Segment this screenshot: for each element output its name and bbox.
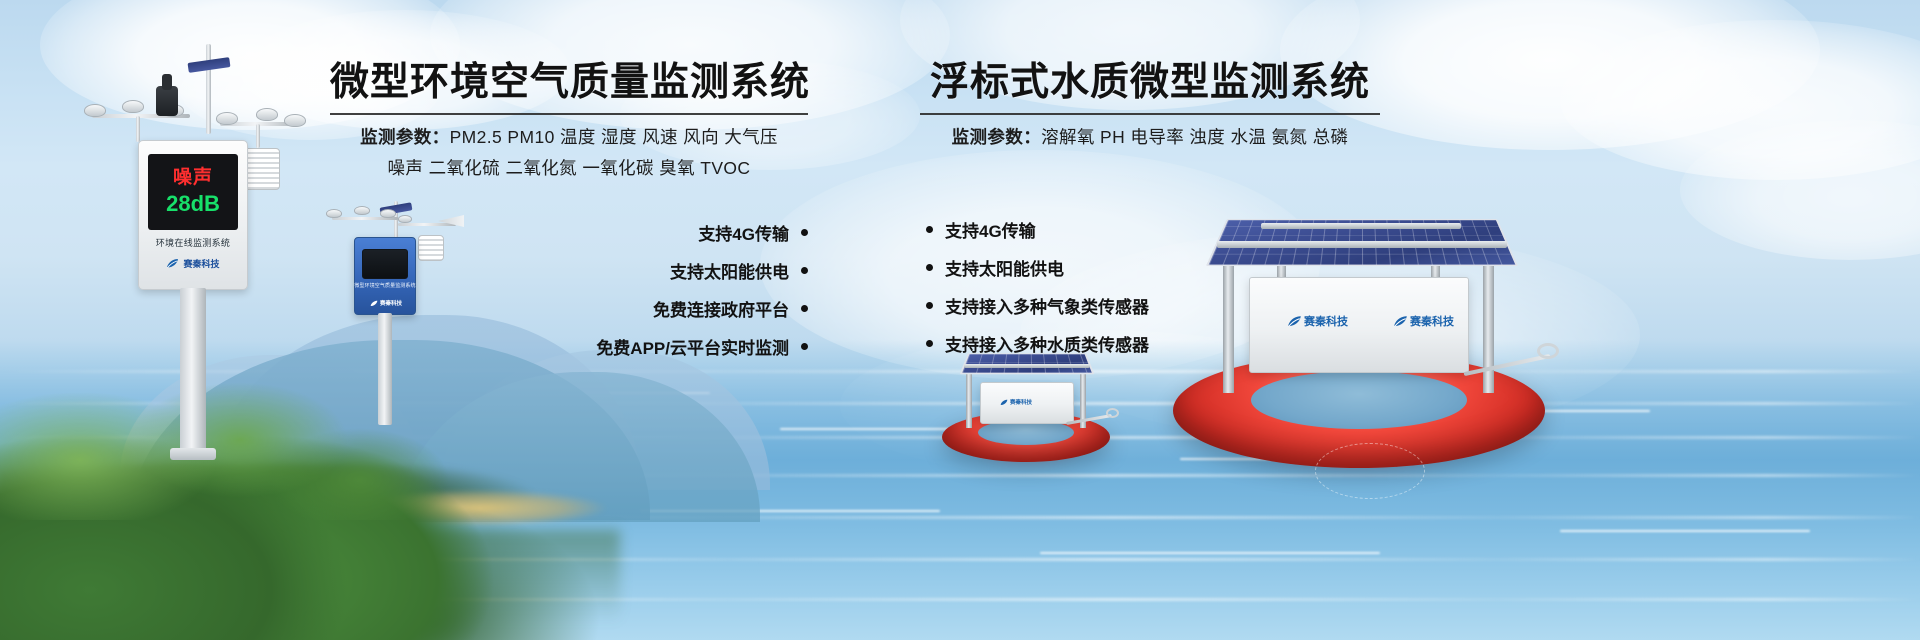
left-panel-divider bbox=[330, 113, 808, 115]
buoy-mooring-ring bbox=[1537, 343, 1559, 359]
station-antenna-mast bbox=[206, 44, 211, 134]
cloud-shape bbox=[1560, 20, 1920, 180]
station-display-screen: 噪声 28dB bbox=[148, 154, 238, 230]
sensor-pod-tip bbox=[162, 74, 172, 90]
right-feature-item: 支持接入多种气象类传感器 bbox=[926, 287, 1380, 325]
brand-leaf-icon bbox=[166, 258, 179, 269]
brand-leaf-icon bbox=[1000, 399, 1008, 406]
water-shimmer bbox=[1560, 530, 1810, 532]
buoy-float-inner bbox=[1251, 371, 1467, 429]
bullet-dot-icon bbox=[801, 229, 808, 236]
left-feature-item: 支持4G传输 bbox=[330, 214, 808, 252]
buoy-small-rail bbox=[964, 364, 1090, 368]
anemometer-cup bbox=[122, 100, 144, 113]
left-feature-item: 支持太阳能供电 bbox=[330, 252, 808, 290]
bullet-dot-icon bbox=[926, 264, 933, 271]
right-params-values-1: 溶解氧 PH 电导率 浊度 水温 氨氮 总磷 bbox=[1041, 127, 1348, 147]
station-brand-text: 赛秦科技 bbox=[183, 257, 219, 270]
bullet-dot-icon bbox=[801, 305, 808, 312]
bullet-dot-icon bbox=[801, 267, 808, 274]
left-params-label: 监测参数： bbox=[360, 127, 450, 147]
buoy-small-post bbox=[966, 366, 972, 428]
right-feature-text: 支持接入多种气象类传感器 bbox=[945, 293, 1149, 318]
buoy-small-mooring-ring bbox=[1106, 408, 1119, 418]
anemometer-cup bbox=[216, 112, 238, 125]
air-quality-station-device: 噪声 28dB 环境在线监测系统 赛秦科技 bbox=[70, 30, 330, 450]
buoy-brand-text: 赛秦科技 bbox=[1410, 313, 1454, 329]
station-base bbox=[170, 448, 216, 460]
left-text-panel: 微型环境空气质量监测系统 监测参数：PM2.5 PM10 温度 湿度 风速 风向… bbox=[330, 62, 808, 366]
left-feature-text: 免费APP/云平台实时监测 bbox=[596, 334, 789, 359]
right-feature-text: 支持接入多种水质类传感器 bbox=[945, 331, 1149, 356]
promo-banner: 噪声 28dB 环境在线监测系统 赛秦科技 微型环 bbox=[0, 0, 1920, 640]
right-panel-divider bbox=[920, 113, 1380, 115]
right-feature-item: 支持4G传输 bbox=[926, 211, 1380, 249]
left-panel-feature-list: 支持4G传输 支持太阳能供电 免费连接政府平台 免费APP/云平台实时监测 bbox=[330, 214, 808, 366]
right-feature-text: 支持4G传输 bbox=[945, 217, 1036, 242]
water-shimmer bbox=[1040, 552, 1380, 554]
right-panel-feature-list: 支持4G传输 支持太阳能供电 支持接入多种气象类传感器 支持接入多种水质类传感器 bbox=[920, 211, 1380, 363]
bullet-dot-icon bbox=[926, 226, 933, 233]
left-panel-params-line1: 监测参数：PM2.5 PM10 温度 湿度 风速 风向 大气压 bbox=[330, 124, 808, 149]
left-feature-item: 免费APP/云平台实时监测 bbox=[330, 328, 808, 366]
right-feature-item: 支持接入多种水质类传感器 bbox=[926, 325, 1380, 363]
display-value-text: 28dB bbox=[166, 192, 220, 215]
anemometer-stem bbox=[136, 116, 140, 142]
bullet-dot-icon bbox=[926, 302, 933, 309]
right-panel-params-line1: 监测参数：溶解氧 PH 电导率 浊度 水温 氨氮 总磷 bbox=[920, 124, 1380, 149]
left-feature-item: 免费连接政府平台 bbox=[330, 290, 808, 328]
cloud-shape bbox=[1680, 120, 1920, 260]
left-feature-text: 支持4G传输 bbox=[698, 220, 789, 245]
right-feature-item: 支持太阳能供电 bbox=[926, 249, 1380, 287]
left-panel-title: 微型环境空气质量监测系统 bbox=[330, 62, 808, 105]
right-feature-text: 支持太阳能供电 bbox=[945, 255, 1064, 280]
anemometer-cup bbox=[284, 114, 306, 127]
buoy-underwater-outline bbox=[1315, 443, 1425, 499]
brand-leaf-icon bbox=[1393, 315, 1408, 328]
bullet-dot-icon bbox=[926, 340, 933, 347]
buoy-small-brand-text: 赛秦科技 bbox=[1010, 398, 1032, 406]
buoy-small-brand: 赛秦科技 bbox=[1000, 398, 1032, 406]
right-panel-title: 浮标式水质微型监测系统 bbox=[920, 62, 1380, 105]
sensor-pod bbox=[156, 86, 178, 116]
station-cabinet-label: 环境在线监测系统 bbox=[138, 236, 248, 249]
left-feature-text: 免费连接政府平台 bbox=[653, 296, 789, 321]
station-brand-badge: 赛秦科技 bbox=[138, 254, 248, 272]
wind-vane-stem bbox=[256, 124, 260, 148]
buoy-brand-right: 赛秦科技 bbox=[1393, 313, 1454, 329]
display-title-text: 噪声 bbox=[173, 168, 213, 188]
right-text-panel: 浮标式水质微型监测系统 监测参数：溶解氧 PH 电导率 浊度 水温 氨氮 总磷 … bbox=[920, 62, 1380, 363]
station-pole bbox=[180, 288, 206, 453]
left-feature-text: 支持太阳能供电 bbox=[670, 258, 789, 283]
right-params-label: 监测参数： bbox=[952, 127, 1042, 147]
left-params-values-1: PM2.5 PM10 温度 湿度 风速 风向 大气压 bbox=[450, 127, 778, 147]
anemometer-cup bbox=[84, 104, 106, 117]
bullet-dot-icon bbox=[801, 343, 808, 350]
left-panel-params-line2: 噪声 二氧化硫 二氧化氮 一氧化碳 臭氧 TVOC bbox=[330, 155, 808, 180]
anemometer-cup bbox=[256, 108, 278, 121]
